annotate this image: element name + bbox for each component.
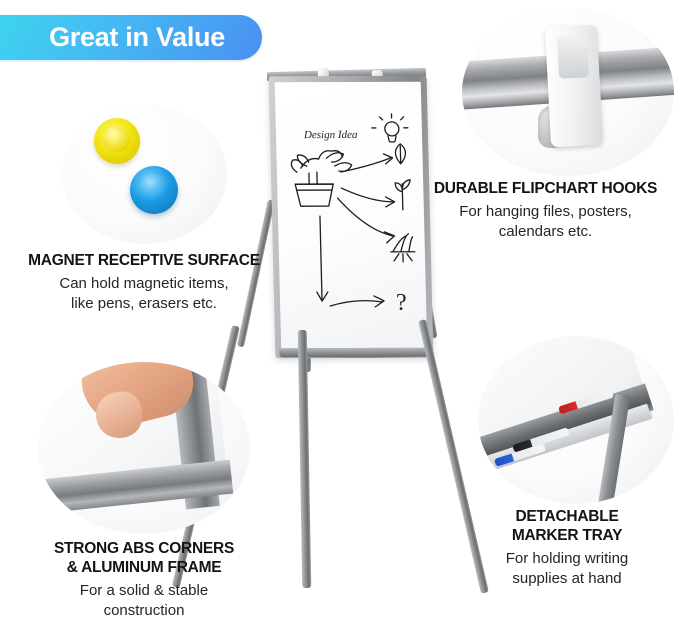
feature-description: For holding writingsupplies at hand (455, 549, 679, 590)
hook-inner-notch (557, 35, 589, 79)
blue-magnet-icon (130, 166, 178, 214)
flipchart-hook-closeup-photo (462, 8, 674, 176)
feature-title: DETACHABLEMARKER TRAY (455, 508, 679, 546)
feature-title: MAGNET RECEPTIVE SURFACE (0, 252, 288, 271)
marker-tray-closeup-photo (478, 336, 674, 504)
feature-detachable-marker-tray: DETACHABLEMARKER TRAY For holding writin… (455, 508, 679, 589)
hand-on-board-corner-photo (38, 362, 250, 534)
feature-magnet-receptive-surface: MAGNET RECEPTIVE SURFACE Can hold magnet… (0, 252, 288, 314)
feature-title: STRONG ABS CORNERS& ALUMINUM FRAME (8, 540, 280, 578)
yellow-magnet-icon (94, 118, 140, 164)
feature-description: Can hold magnetic items,like pens, erase… (0, 274, 288, 315)
feature-description: For hanging files, posters,calendars etc… (412, 202, 679, 243)
feature-title: DURABLE FLIPCHART HOOKS (412, 180, 679, 199)
magnets-on-whiteboard-photo (62, 104, 227, 244)
sketch-heading: Design Idea (303, 129, 358, 141)
feature-strong-abs-corners: STRONG ABS CORNERS& ALUMINUM FRAME For a… (8, 540, 280, 621)
feature-durable-flipchart-hooks: DURABLE FLIPCHART HOOKS For hanging file… (412, 180, 679, 242)
feature-description: For a solid & stableconstruction (8, 581, 280, 622)
sketch-question-mark: ? (396, 290, 407, 316)
whiteboard-handwriting-sketch: Design Idea (269, 76, 434, 358)
